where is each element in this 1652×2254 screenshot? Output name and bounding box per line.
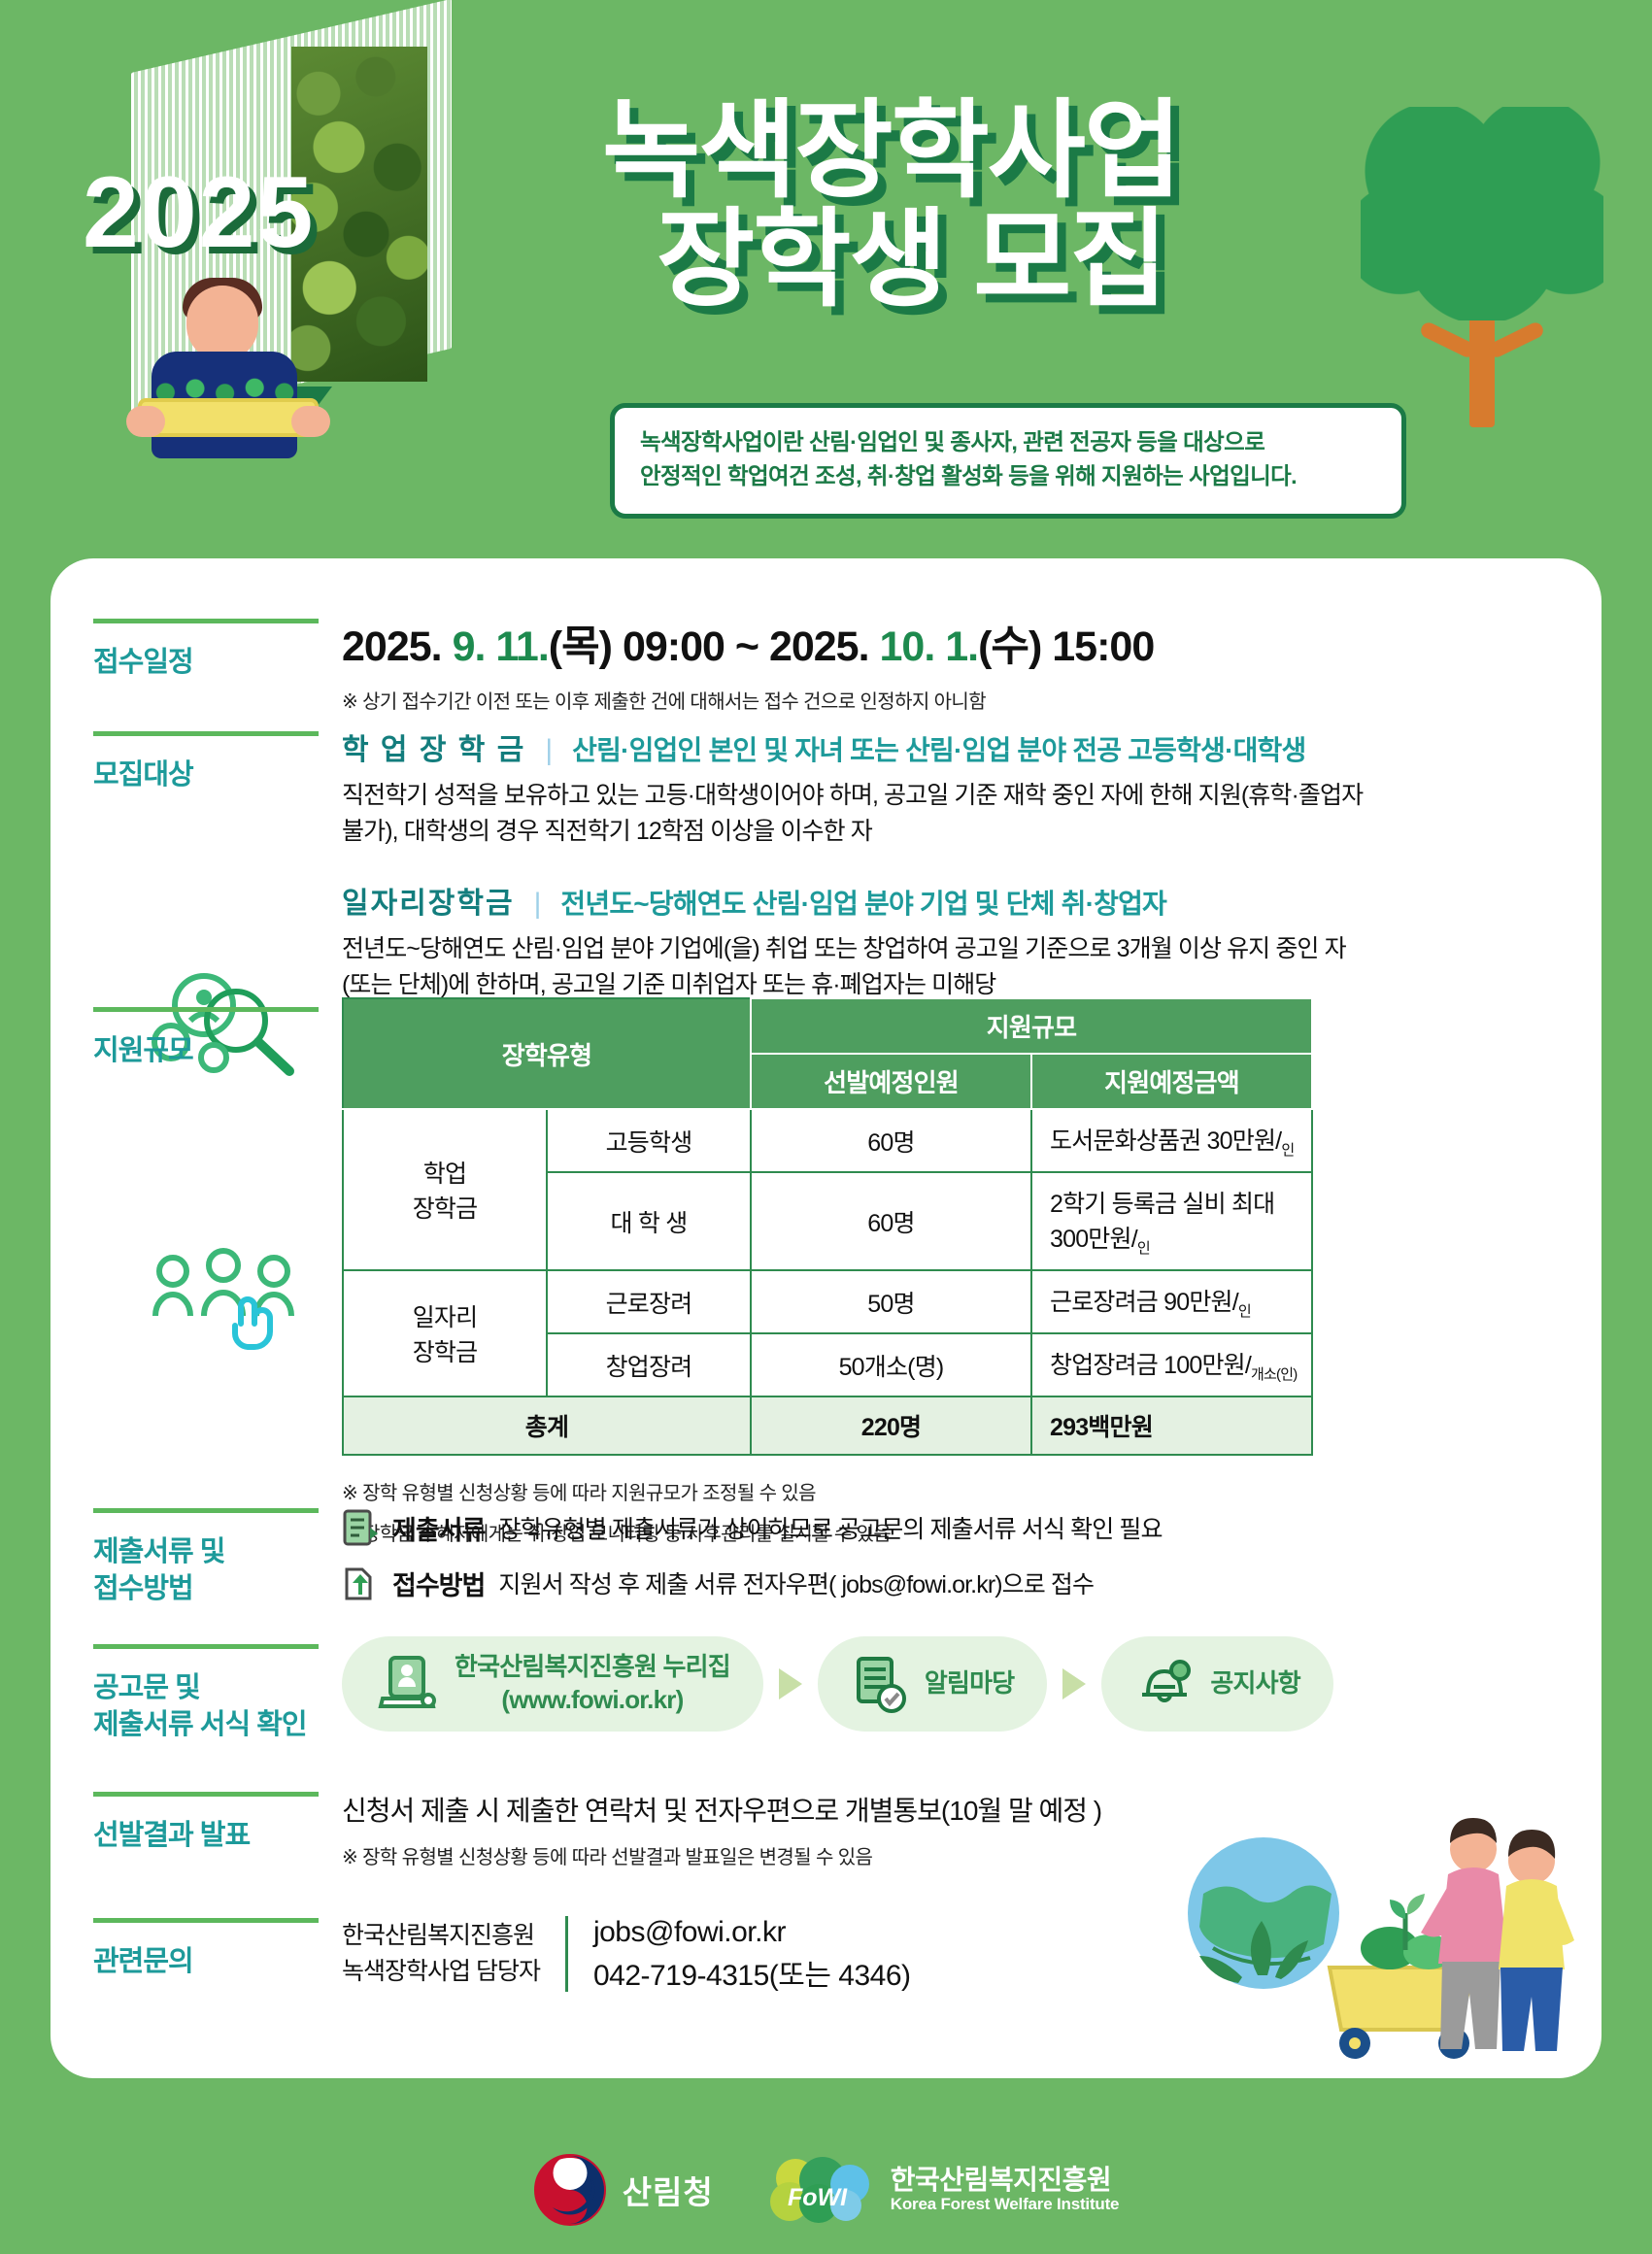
section-label-notice: 공고문 및 제출서류 서식 확인 xyxy=(93,1644,355,1743)
table-header-row-1: 장학유형 지원규모 xyxy=(343,998,1312,1054)
job-body-line-1: 전년도~당해연도 산림·임업 분야 기업에(을) 취업 또는 창업하여 공고일 … xyxy=(342,931,1346,967)
label-divider xyxy=(93,731,319,736)
document-row-value: 장학유형별 제출서류가 상이하므로 공고문의 제출서류 서식 확인 필요 xyxy=(498,1510,1162,1545)
cell-count: 60명 xyxy=(751,1109,1031,1172)
head-icon xyxy=(186,286,258,361)
total-amount: 293백만원 xyxy=(1031,1396,1312,1455)
amount-unit: 인 xyxy=(1137,1240,1150,1257)
page-title: 녹색장학사업 장학생 모집 xyxy=(602,97,1457,315)
poster-root: 2025 녹색장학사업 장학생 모집 녹색장학사업이란 산림·임업인 및 종사자… xyxy=(0,0,1652,2254)
table-head: 장학유형 지원규모 선발예정인원 지원예정금액 xyxy=(343,998,1312,1109)
th-planned-amount: 지원예정금액 xyxy=(1031,1054,1312,1109)
fowi-name-block: 한국산림복지진흥원 Korea Forest Welfare Institute xyxy=(891,2166,1120,2215)
academic-scholarship-header: 학 업 장 학 금 | 산림·임업인 본인 및 자녀 또는 산림·임업 분야 전… xyxy=(342,725,1363,768)
separator: | xyxy=(545,734,553,767)
contact-email[interactable]: jobs@fowi.or.kr xyxy=(593,1910,911,1954)
cell-type: 근로장려 xyxy=(547,1270,751,1333)
end-time: (수) 15:00 xyxy=(978,623,1154,670)
job-scholarship-body: 전년도~당해연도 산림·임업 분야 기업에(을) 취업 또는 창업하여 공고일 … xyxy=(342,931,1346,1003)
document-row-key: 제출서류 xyxy=(392,1509,485,1547)
amount-unit: 인 xyxy=(1281,1142,1294,1159)
checklist-icon xyxy=(851,1654,909,1714)
notice-step-announcement-text: 공지사항 xyxy=(1210,1667,1299,1700)
cell-type: 대 학 생 xyxy=(547,1172,751,1270)
notice-label-line-2: 제출서류 서식 확인 xyxy=(93,1707,355,1744)
end-year: 2025. xyxy=(769,623,869,670)
section-label-result: 선발결과 발표 xyxy=(93,1792,355,1855)
label-divider xyxy=(93,619,319,623)
upload-icon xyxy=(342,1564,379,1602)
laptop-icon xyxy=(375,1652,439,1716)
table-total-row: 총계 220명 293백만원 xyxy=(343,1396,1312,1455)
title-line-2: 장학생 모집 xyxy=(657,206,1457,315)
result-main-text: 신청서 제출 시 제출한 연락처 및 전자우편으로 개별통보(10월 말 예정 … xyxy=(342,1790,1101,1829)
start-year: 2025. xyxy=(342,623,442,670)
fowi-name-kr: 한국산림복지진흥원 xyxy=(891,2165,1111,2195)
people-with-cart-illustration xyxy=(1174,1767,1582,2059)
website-line-1: 한국산림복지진흥원 누리집 xyxy=(455,1652,730,1681)
notice-label-text: 공고문 및 제출서류 서식 확인 xyxy=(93,1670,355,1743)
chevron-right-icon xyxy=(1062,1668,1086,1699)
job-scholarship-name: 일자리장학금 xyxy=(342,879,515,922)
section-label-schedule: 접수일정 xyxy=(93,619,355,682)
table-row: 일자리 장학금 근로장려 50명 근로장려금 90만원/인 xyxy=(343,1270,1312,1333)
program-description-box: 녹색장학사업이란 산림·임업인 및 종사자, 관련 전공자 등을 대상으로 안정… xyxy=(610,403,1406,519)
group-line-2: 장학금 xyxy=(344,1333,546,1368)
website-line-2: (www.fowi.or.kr) xyxy=(501,1685,683,1714)
documents-content: 제출서류 장학유형별 제출서류가 상이하므로 공고문의 제출서류 서식 확인 필… xyxy=(342,1508,1163,1619)
notice-step-board[interactable]: 알림마당 xyxy=(818,1636,1047,1732)
section-label-contact: 관련문의 xyxy=(93,1918,355,1981)
document-row: 제출서류 장학유형별 제출서류가 상이하므로 공고문의 제출서류 서식 확인 필… xyxy=(342,1508,1163,1547)
notice-step-row: 한국산림복지진흥원 누리집 (www.fowi.or.kr) xyxy=(342,1636,1333,1732)
th-planned-count: 선발예정인원 xyxy=(751,1054,1031,1109)
end-month: 10. xyxy=(880,623,935,670)
schedule-content: 2025. 9. 11.(목) 09:00 ~ 2025. 10. 1.(수) … xyxy=(342,613,1154,714)
group-cell-job: 일자리 장학금 xyxy=(343,1270,547,1396)
taegeuk-icon xyxy=(533,2153,607,2227)
contact-content: 한국산림복지진흥원 녹색장학사업 담당자 jobs@fowi.or.kr 042… xyxy=(342,1910,911,1998)
notice-label-line-1: 공고문 및 xyxy=(93,1670,355,1707)
documents-label-line-2: 접수방법 xyxy=(93,1571,355,1608)
result-content: 신청서 제출 시 제출한 연락처 및 전자우편으로 개별통보(10월 말 예정 … xyxy=(342,1790,1101,1869)
total-count: 220명 xyxy=(751,1396,1031,1455)
notice-step-website[interactable]: 한국산림복지진흥원 누리집 (www.fowi.or.kr) xyxy=(342,1636,763,1732)
hero-section: 2025 녹색장학사업 장학생 모집 녹색장학사업이란 산림·임업인 및 종사자… xyxy=(0,0,1652,583)
label-divider xyxy=(93,1644,319,1649)
contact-details: jobs@fowi.or.kr 042-719-4315(또는 4346) xyxy=(593,1910,911,1998)
submission-row: 접수방법 지원서 작성 후 제출 서류 전자우편( jobs@fowi.or.k… xyxy=(342,1564,1163,1602)
footer-logos: 산림청 FoWI 한국산림복지진흥원 Korea Forest Welfare … xyxy=(0,2153,1652,2227)
fowi-logo: FoWI 한국산림복지진흥원 Korea Forest Welfare Inst… xyxy=(768,2155,1120,2225)
label-divider xyxy=(93,1508,319,1513)
academic-scholarship-body: 직전학기 성적을 보유하고 있는 고등·대학생이어야 하며, 공고일 기준 재학… xyxy=(342,778,1363,850)
documents-label-line-1: 제출서류 및 xyxy=(93,1534,355,1571)
cell-amount: 2학기 등록금 실비 최대 300만원/인 xyxy=(1031,1172,1312,1270)
amount-unit: 인 xyxy=(1238,1303,1251,1320)
total-label: 총계 xyxy=(343,1396,751,1455)
th-support-scale: 지원규모 xyxy=(751,998,1312,1054)
result-note: ※ 장학 유형별 신청상황 등에 따라 선발결과 발표일은 변경될 수 있음 xyxy=(342,1841,1101,1869)
table-row: 학업 장학금 고등학생 60명 도서문화상품권 30만원/인 xyxy=(343,1109,1312,1172)
amount-text: 2학기 등록금 실비 최대 300만원/ xyxy=(1050,1191,1274,1253)
forest-service-name: 산림청 xyxy=(623,2167,714,2213)
support-scale-table: 장학유형 지원규모 선발예정인원 지원예정금액 학업 장학금 고등학생 xyxy=(342,997,1313,1456)
group-line-1: 학업 xyxy=(344,1155,546,1190)
cell-count: 50개소(명) xyxy=(751,1333,1031,1396)
notice-step-announcement[interactable]: 공지사항 xyxy=(1101,1636,1332,1732)
contact-org: 한국산림복지진흥원 녹색장학사업 담당자 xyxy=(342,1918,540,1991)
academic-scholarship-target: 산림·임업인 본인 및 자녀 또는 산림·임업 분야 전공 고등학생·대학생 xyxy=(572,729,1305,768)
cell-type: 창업장려 xyxy=(547,1333,751,1396)
separator: | xyxy=(534,888,542,921)
amount-text: 도서문화상품권 30만원/ xyxy=(1050,1127,1281,1155)
cell-amount: 도서문화상품권 30만원/인 xyxy=(1031,1109,1312,1172)
academic-scholarship-block: 학 업 장 학 금 | 산림·임업인 본인 및 자녀 또는 산림·임업 분야 전… xyxy=(342,725,1363,850)
start-day: 11. xyxy=(495,623,548,670)
academic-body-line-2: 불가), 대학생의 경우 직전학기 12학점 이상을 이수한 자 xyxy=(342,814,1363,850)
section-label-support-scale: 지원규모 xyxy=(93,1007,355,1070)
group-cell-academic: 학업 장학금 xyxy=(343,1109,547,1270)
hand-right-icon xyxy=(291,406,330,437)
cell-count: 50명 xyxy=(751,1270,1031,1333)
fowi-mark-icon: FoWI xyxy=(768,2155,875,2225)
amount-text: 근로장려금 90만원/ xyxy=(1050,1289,1238,1316)
end-day: 1. xyxy=(945,623,978,670)
label-divider xyxy=(93,1918,319,1923)
description-line-2: 안정적인 학업여건 조성, 취·창업 활성화 등을 위해 지원하는 사업입니다. xyxy=(640,459,1376,493)
cell-amount: 근로장려금 90만원/인 xyxy=(1031,1270,1312,1333)
table-body: 학업 장학금 고등학생 60명 도서문화상품권 30만원/인 대 학 생 60명… xyxy=(343,1109,1312,1396)
contact-label-text: 관련문의 xyxy=(93,1944,355,1981)
submission-row-key: 접수방법 xyxy=(392,1564,485,1602)
group-line-2: 장학금 xyxy=(344,1190,546,1225)
th-scholarship-type: 장학유형 xyxy=(343,998,751,1109)
documents-label-text: 제출서류 및 접수방법 xyxy=(93,1534,355,1607)
start-time: (목) 09:00 ~ xyxy=(549,623,759,670)
amount-text: 창업장려금 100만원/ xyxy=(1050,1352,1251,1379)
person-with-seedlings-illustration xyxy=(117,282,359,476)
cell-amount: 창업장려금 100만원/개소(인) xyxy=(1031,1333,1312,1396)
people-group-icon xyxy=(148,1248,313,1360)
job-scholarship-target: 전년도~당해연도 산림·임업 분야 기업 및 단체 취·창업자 xyxy=(560,883,1166,922)
notice-step-board-text: 알림마당 xyxy=(925,1667,1014,1700)
contact-org-line-2: 녹색장학사업 담당자 xyxy=(342,1954,540,1991)
fowi-name-en: Korea Forest Welfare Institute xyxy=(891,2195,1120,2213)
contact-phone[interactable]: 042-719-4315(또는 4346) xyxy=(593,1954,911,1998)
result-label-text: 선발결과 발표 xyxy=(93,1818,355,1855)
svg-text:FoWI: FoWI xyxy=(788,2184,848,2211)
cell-count: 60명 xyxy=(751,1172,1031,1270)
contact-org-line-1: 한국산림복지진흥원 xyxy=(342,1918,540,1955)
person-b xyxy=(1499,1830,1574,2051)
table-foot: 총계 220명 293백만원 xyxy=(343,1396,1312,1455)
tree-branch-right-icon xyxy=(1487,320,1546,360)
contact-divider xyxy=(565,1916,568,1992)
application-period: 2025. 9. 11.(목) 09:00 ~ 2025. 10. 1.(수) … xyxy=(342,613,1154,673)
label-divider xyxy=(93,1792,319,1797)
hand-left-icon xyxy=(126,406,165,437)
group-line-1: 일자리 xyxy=(344,1298,546,1333)
document-icon xyxy=(342,1508,379,1547)
support-note-1: ※ 장학 유형별 신청상황 등에 따라 지원규모가 조정될 수 있음 xyxy=(342,1477,1313,1505)
content-card: 접수일정 2025. 9. 11.(목) 09:00 ~ 2025. 10. 1… xyxy=(51,558,1601,2078)
eligibility-label-text: 모집대상 xyxy=(93,757,355,794)
section-label-eligibility: 모집대상 xyxy=(93,731,355,794)
schedule-note: ※ 상기 접수기간 이전 또는 이후 제출한 건에 대해서는 접수 건으로 인정… xyxy=(342,686,1154,714)
cell-type: 고등학생 xyxy=(547,1109,751,1172)
notice-steps: 한국산림복지진흥원 누리집 (www.fowi.or.kr) xyxy=(342,1636,1333,1732)
title-line-1: 녹색장학사업 xyxy=(602,97,1457,206)
notice-step-website-text: 한국산림복지진흥원 누리집 (www.fowi.or.kr) xyxy=(455,1651,730,1717)
page-year: 2025 xyxy=(83,155,315,271)
submission-row-value: 지원서 작성 후 제출 서류 전자우편( jobs@fowi.or.kr)으로 … xyxy=(498,1565,1094,1600)
label-divider xyxy=(93,1007,319,1012)
contact-block: 한국산림복지진흥원 녹색장학사업 담당자 jobs@fowi.or.kr 042… xyxy=(342,1910,911,1998)
schedule-label-text: 접수일정 xyxy=(93,645,355,682)
support-scale-content: 장학유형 지원규모 선발예정인원 지원예정금액 학업 장학금 고등학생 xyxy=(342,997,1313,1546)
bell-icon xyxy=(1134,1654,1195,1714)
academic-scholarship-name: 학 업 장 학 금 xyxy=(342,725,525,768)
start-month: 9. xyxy=(453,623,486,670)
support-scale-label-text: 지원규모 xyxy=(93,1033,355,1070)
chevron-right-icon xyxy=(779,1668,802,1699)
forest-service-logo: 산림청 xyxy=(533,2153,714,2227)
amount-unit: 개소(인) xyxy=(1251,1366,1297,1383)
description-line-1: 녹색장학사업이란 산림·임업인 및 종사자, 관련 전공자 등을 대상으로 xyxy=(640,425,1376,459)
section-label-documents: 제출서류 및 접수방법 xyxy=(93,1508,355,1607)
academic-body-line-1: 직전학기 성적을 보유하고 있는 고등·대학생이어야 하며, 공고일 기준 재학… xyxy=(342,778,1363,814)
job-scholarship-header: 일자리장학금 | 전년도~당해연도 산림·임업 분야 기업 및 단체 취·창업자 xyxy=(342,879,1346,922)
